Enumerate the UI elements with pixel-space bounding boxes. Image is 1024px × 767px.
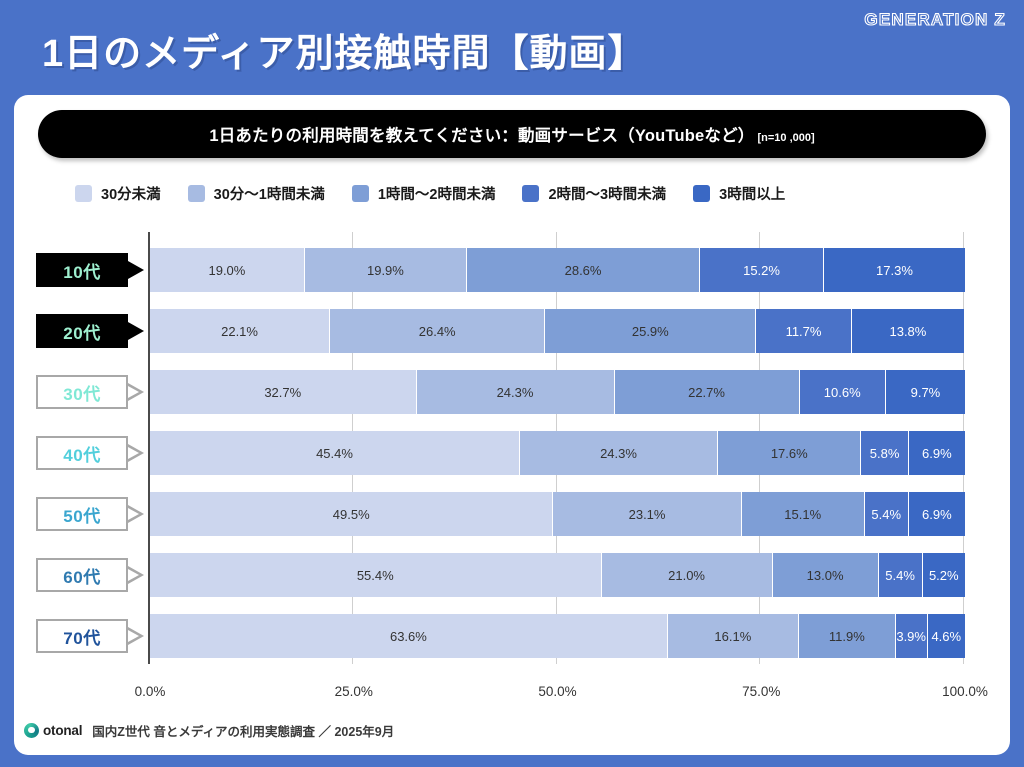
bar-segment-label: 5.4% <box>871 507 901 522</box>
x-axis-tick-label: 25.0% <box>335 684 373 699</box>
bar-segment-label: 5.4% <box>885 568 915 583</box>
legend-item-label: 3時間以上 <box>719 183 785 204</box>
bar-segment[interactable]: 26.4% <box>330 309 545 353</box>
bar-segment[interactable]: 17.3% <box>824 248 965 292</box>
legend-item-1[interactable]: 30分未満 <box>75 183 161 204</box>
otonal-logo-wordmark: otonal <box>43 723 82 738</box>
chart-legend: 30分未満30分〜1時間未満1時間〜2時間未満2時間〜3時間未満3時間以上 <box>75 183 965 204</box>
question-text: 1日あたりの利用時間を教えてください：動画サービス（YouTubeなど） <box>209 122 754 146</box>
bar-segment-label: 32.7% <box>264 385 301 400</box>
bar-segment[interactable]: 15.1% <box>742 492 865 536</box>
bar-segment[interactable]: 17.6% <box>718 431 861 475</box>
bar-row[interactable]: 19.0%19.9%28.6%15.2%17.3% <box>150 248 965 292</box>
bar-segment[interactable]: 13.8% <box>852 309 964 353</box>
bar-segment-label: 10.6% <box>824 385 861 400</box>
plot-region: 19.0%19.9%28.6%15.2%17.3%22.1%26.4%25.9%… <box>148 232 963 664</box>
bar-segment[interactable]: 11.7% <box>756 309 851 353</box>
callout-pointer-icon <box>128 444 144 462</box>
bar-segment[interactable]: 5.4% <box>879 553 923 597</box>
age-label-30代: 30代 <box>36 375 128 409</box>
bar-segment-label: 28.6% <box>565 263 602 278</box>
age-label-text: 70代 <box>63 624 100 649</box>
bar-segment[interactable]: 49.5% <box>150 492 553 536</box>
age-label-60代: 60代 <box>36 558 128 592</box>
bar-row[interactable]: 22.1%26.4%25.9%11.7%13.8% <box>150 309 965 353</box>
bar-segment[interactable]: 6.9% <box>909 492 965 536</box>
bar-segment-label: 5.8% <box>870 446 900 461</box>
bar-segment-label: 16.1% <box>714 629 751 644</box>
bar-segment[interactable]: 13.0% <box>773 553 879 597</box>
age-label-text: 10代 <box>63 258 100 283</box>
bar-segment-label: 3.9% <box>896 629 926 644</box>
bar-segment-label: 13.8% <box>889 324 926 339</box>
bar-segment-label: 6.9% <box>922 507 952 522</box>
bar-row[interactable]: 49.5%23.1%15.1%5.4%6.9% <box>150 492 965 536</box>
age-label-70代: 70代 <box>36 619 128 653</box>
footer: otonal 国内Z世代 音とメディアの利用実態調査 ／ 2025年9月 <box>24 719 394 741</box>
slide-header: GENERATION Z 1日のメディア別接触時間【動画】 <box>0 0 1024 97</box>
bar-segment-label: 15.1% <box>784 507 821 522</box>
bar-segment[interactable]: 5.8% <box>861 431 908 475</box>
x-axis-tick-label: 100.0% <box>942 684 988 699</box>
bar-segment-label: 17.6% <box>771 446 808 461</box>
otonal-logo-icon <box>24 723 39 738</box>
bar-segment-label: 22.1% <box>221 324 258 339</box>
legend-item-3[interactable]: 1時間〜2時間未満 <box>352 183 496 204</box>
bar-row[interactable]: 45.4%24.3%17.6%5.8%6.9% <box>150 431 965 475</box>
bar-segment-label: 15.2% <box>743 263 780 278</box>
bar-segment[interactable]: 32.7% <box>150 370 417 414</box>
page-title: 1日のメディア別接触時間【動画】 <box>42 22 646 77</box>
bar-segment[interactable]: 5.2% <box>923 553 965 597</box>
bar-segment[interactable]: 28.6% <box>467 248 700 292</box>
bar-segment[interactable]: 45.4% <box>150 431 520 475</box>
footer-source-text: 国内Z世代 音とメディアの利用実態調査 ／ 2025年9月 <box>92 721 394 740</box>
bar-segment-label: 11.9% <box>829 629 865 644</box>
bar-segment[interactable]: 3.9% <box>896 614 928 658</box>
bar-segment[interactable]: 55.4% <box>150 553 602 597</box>
bar-segment[interactable]: 21.0% <box>602 553 773 597</box>
legend-swatch-icon <box>75 185 92 202</box>
question-banner: 1日あたりの利用時間を教えてください：動画サービス（YouTubeなど） [n=… <box>38 110 986 158</box>
bar-segment-label: 13.0% <box>807 568 844 583</box>
legend-item-4[interactable]: 2時間〜3時間未満 <box>522 183 666 204</box>
bar-segment-label: 49.5% <box>333 507 370 522</box>
bar-segment[interactable]: 25.9% <box>545 309 756 353</box>
legend-item-label: 2時間〜3時間未満 <box>548 183 666 204</box>
callout-pointer-icon <box>128 505 144 523</box>
legend-item-label: 30分未満 <box>101 183 161 204</box>
callout-pointer-icon <box>128 322 144 340</box>
bar-segment-label: 5.2% <box>929 568 959 583</box>
bar-segment-label: 63.6% <box>390 629 427 644</box>
legend-swatch-icon <box>522 185 539 202</box>
age-label-text: 30代 <box>63 380 100 405</box>
bar-segment-label: 19.0% <box>208 263 245 278</box>
age-label-text: 60代 <box>63 563 100 588</box>
legend-item-5[interactable]: 3時間以上 <box>693 183 785 204</box>
chart-area: 19.0%19.9%28.6%15.2%17.3%22.1%26.4%25.9%… <box>0 232 1024 664</box>
callout-pointer-icon <box>128 383 144 401</box>
sample-size: [n=10 ,000] <box>758 132 815 144</box>
bar-segment[interactable]: 11.9% <box>799 614 896 658</box>
bar-segment-label: 19.9% <box>367 263 404 278</box>
x-axis-tick-label: 75.0% <box>742 684 780 699</box>
bar-segment-label: 24.3% <box>600 446 637 461</box>
callout-pointer-icon <box>128 261 144 279</box>
bar-segment[interactable]: 24.3% <box>520 431 718 475</box>
bar-segment-label: 22.7% <box>688 385 725 400</box>
bar-segment[interactable]: 9.7% <box>886 370 965 414</box>
bar-row[interactable]: 32.7%24.3%22.7%10.6%9.7% <box>150 370 965 414</box>
bar-segment-label: 6.9% <box>922 446 952 461</box>
bar-segment-label: 4.6% <box>931 629 961 644</box>
bar-segment-label: 23.1% <box>629 507 666 522</box>
legend-swatch-icon <box>352 185 369 202</box>
bar-segment-label: 55.4% <box>357 568 394 583</box>
callout-pointer-icon <box>128 627 144 645</box>
bar-segment[interactable]: 19.9% <box>305 248 467 292</box>
legend-item-label: 1時間〜2時間未満 <box>378 183 496 204</box>
bar-segment[interactable]: 19.0% <box>150 248 305 292</box>
bar-segment-label: 21.0% <box>668 568 705 583</box>
bar-segment[interactable]: 6.9% <box>909 431 965 475</box>
bar-segment-label: 11.7% <box>786 324 822 339</box>
age-label-text: 20代 <box>63 319 100 344</box>
generation-z-tag: GENERATION Z <box>864 10 1006 30</box>
bar-segment-label: 24.3% <box>497 385 534 400</box>
bar-segment-label: 25.9% <box>632 324 669 339</box>
bar-segment-label: 9.7% <box>911 385 941 400</box>
age-label-20代: 20代 <box>36 314 128 348</box>
bar-segment[interactable]: 23.1% <box>553 492 741 536</box>
age-label-40代: 40代 <box>36 436 128 470</box>
age-label-10代: 10代 <box>36 253 128 287</box>
bar-row[interactable]: 55.4%21.0%13.0%5.4%5.2% <box>150 553 965 597</box>
bar-segment[interactable]: 5.4% <box>865 492 909 536</box>
age-label-text: 50代 <box>63 502 100 527</box>
bar-segment[interactable]: 24.3% <box>417 370 615 414</box>
bar-row[interactable]: 63.6%16.1%11.9%3.9%4.6% <box>150 614 965 658</box>
bar-segment[interactable]: 22.1% <box>150 309 330 353</box>
legend-item-label: 30分〜1時間未満 <box>214 183 325 204</box>
bar-segment[interactable]: 15.2% <box>700 248 824 292</box>
age-label-text: 40代 <box>63 441 100 466</box>
bar-segment[interactable]: 4.6% <box>928 614 965 658</box>
bar-segment[interactable]: 63.6% <box>150 614 668 658</box>
callout-pointer-icon <box>128 566 144 584</box>
x-axis-tick-label: 50.0% <box>538 684 576 699</box>
legend-swatch-icon <box>188 185 205 202</box>
legend-item-2[interactable]: 30分〜1時間未満 <box>188 183 325 204</box>
bar-segment-label: 45.4% <box>316 446 353 461</box>
bar-segment[interactable]: 22.7% <box>615 370 800 414</box>
legend-swatch-icon <box>693 185 710 202</box>
bar-segment-label: 17.3% <box>876 263 913 278</box>
bar-segment[interactable]: 16.1% <box>668 614 799 658</box>
bar-segment[interactable]: 10.6% <box>800 370 886 414</box>
x-axis-tick-label: 0.0% <box>135 684 166 699</box>
bar-segment-label: 26.4% <box>419 324 456 339</box>
age-label-50代: 50代 <box>36 497 128 531</box>
x-axis-ticks: 0.0%25.0%50.0%75.0%100.0% <box>0 684 1024 704</box>
